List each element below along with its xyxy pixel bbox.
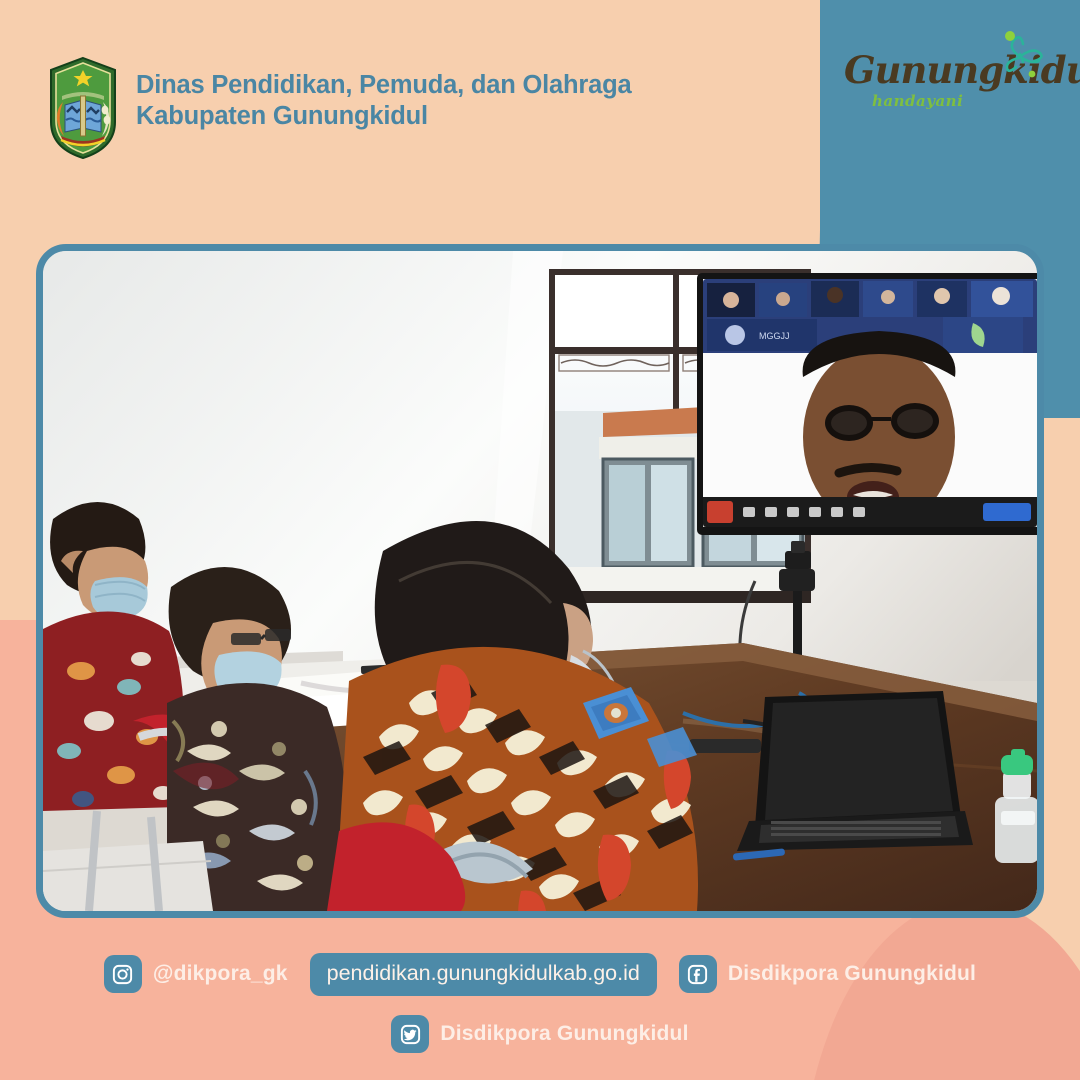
gunungkidul-brand-logo: Gunungkidul handayani — [844, 40, 1044, 122]
footer-row-2: Disdikpora Gunungkidul — [0, 1008, 1080, 1060]
facebook-icon[interactable] — [679, 955, 717, 993]
poster-canvas: Dinas Pendidikan, Pemuda, dan Olahraga K… — [0, 0, 1080, 1080]
brand-tagline: handayani — [872, 92, 963, 110]
footer: @dikpora_gk pendidikan.gunungkidulkab.go… — [0, 948, 1080, 1080]
svg-text:MGGJJ: MGGJJ — [759, 331, 790, 341]
facebook-label: Disdikpora Gunungkidul — [728, 962, 976, 986]
facebook-handle[interactable]: Disdikpora Gunungkidul — [679, 955, 976, 993]
instagram-icon[interactable] — [104, 955, 142, 993]
title-line-2: Kabupaten Gunungkidul — [136, 101, 631, 132]
twitter-label: Disdikpora Gunungkidul — [440, 1022, 688, 1046]
dragonfly-flourish-icon — [992, 26, 1048, 82]
meeting-photo: MGGJJ — [43, 251, 1037, 911]
photo-frame: MGGJJ — [36, 244, 1044, 918]
twitter-handle[interactable]: Disdikpora Gunungkidul — [391, 1015, 688, 1053]
page-title: Dinas Pendidikan, Pemuda, dan Olahraga K… — [136, 70, 631, 132]
instagram-handle[interactable]: @dikpora_gk — [104, 955, 288, 993]
title-line-1: Dinas Pendidikan, Pemuda, dan Olahraga — [136, 70, 631, 101]
instagram-label: @dikpora_gk — [153, 962, 288, 986]
gunungkidul-regency-crest-icon — [45, 56, 121, 160]
footer-row-1: @dikpora_gk pendidikan.gunungkidulkab.go… — [0, 948, 1080, 1000]
website-url-pill[interactable]: pendidikan.gunungkidulkab.go.id — [310, 953, 657, 996]
header: Dinas Pendidikan, Pemuda, dan Olahraga K… — [0, 0, 1080, 190]
twitter-icon[interactable] — [391, 1015, 429, 1053]
